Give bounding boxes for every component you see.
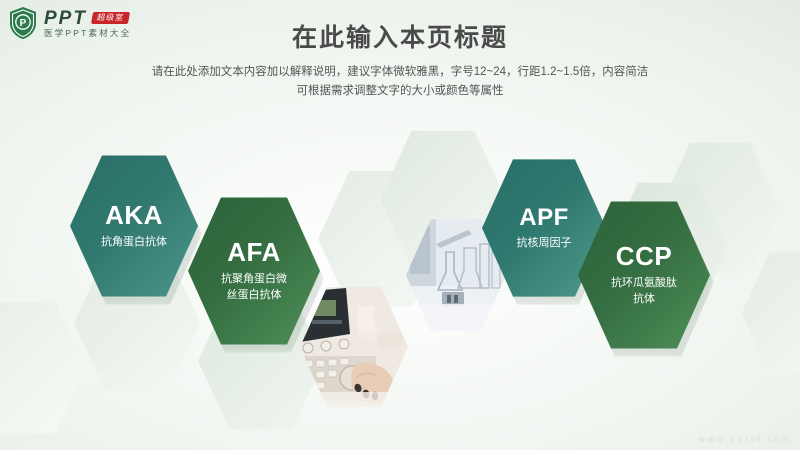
hex-label-apf-line1: 抗核周因子 bbox=[517, 235, 572, 251]
hex-code-afa: AFA bbox=[227, 239, 281, 266]
bg-hex-7 bbox=[0, 300, 86, 436]
hex-label-aka: 抗角蛋白抗体 bbox=[101, 234, 167, 250]
hex-label-afa-line2: 丝蛋白抗体 bbox=[221, 287, 287, 303]
hex-code-ccp: CCP bbox=[616, 243, 672, 270]
hex-label-afa-line1: 抗聚角蛋白微 bbox=[221, 271, 287, 287]
hex-label-ccp-line2: 抗体 bbox=[611, 291, 677, 307]
subtitle-line-1: 请在此处添加文本内容加以解释说明，建议字体微软雅黑，字号12~24，行距1.2~… bbox=[0, 63, 800, 82]
page-title: 在此输入本页标题 bbox=[0, 18, 800, 54]
subtitle-line-2: 可根据需求调整文字的大小或颜色等属性 bbox=[0, 82, 800, 101]
hex-code-aka: AKA bbox=[105, 202, 163, 229]
watermark: www.pptof.com bbox=[698, 434, 792, 444]
hex-label-apf: 抗核周因子 bbox=[517, 235, 572, 251]
hex-label-afa: 抗聚角蛋白微 丝蛋白抗体 bbox=[221, 271, 287, 303]
hex-label-ccp-line1: 抗环瓜氨酸肽 bbox=[611, 275, 677, 291]
hex-label-aka-line1: 抗角蛋白抗体 bbox=[101, 234, 167, 250]
hex-label-ccp: 抗环瓜氨酸肽 抗体 bbox=[611, 275, 677, 307]
hex-code-apf: APF bbox=[519, 205, 569, 230]
page-subtitle: 请在此处添加文本内容加以解释说明，建议字体微软雅黑，字号12~24，行距1.2~… bbox=[0, 63, 800, 101]
